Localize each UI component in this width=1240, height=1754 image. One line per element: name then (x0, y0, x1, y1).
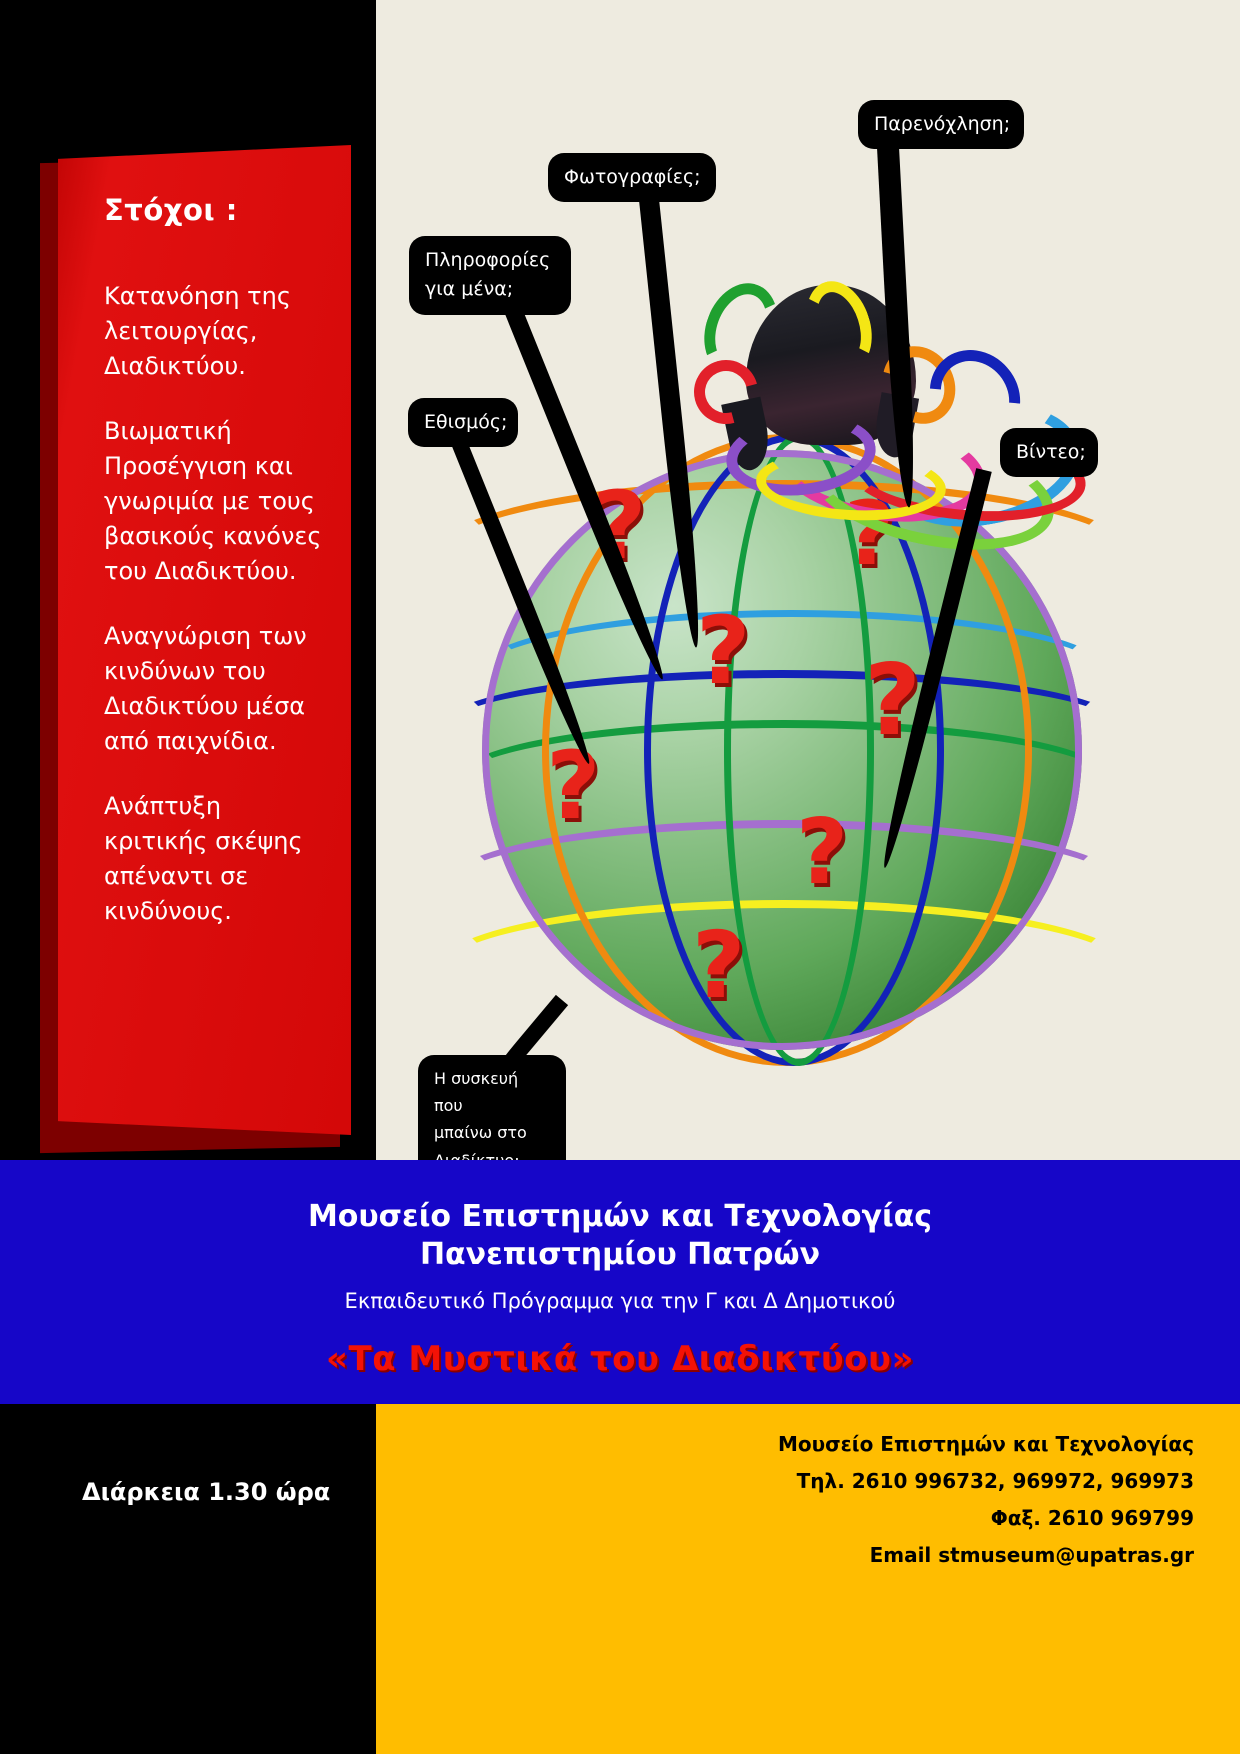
program-title: «Τα Μυστικά του Διαδικτύου» (0, 1339, 1240, 1379)
objective-item: Βιωματική Προσέγγιση και γνωριμία με του… (104, 414, 323, 589)
question-mark: ? (692, 920, 745, 1012)
bubble-harassment[interactable]: Παρενόχληση; (858, 100, 1024, 149)
bubble-photos[interactable]: Φωτογραφίες; (548, 153, 716, 202)
question-mark: ? (796, 808, 848, 898)
contact-line: Μουσείο Επιστημών και Τεχνολογίας (376, 1426, 1194, 1463)
duration-label: Διάρκεια 1.30 ώρα (82, 1478, 330, 1506)
objectives-heading: Στόχοι : (104, 193, 323, 227)
museum-name-line1: Μουσείο Επιστημών και Τεχνολογίας (0, 1198, 1240, 1236)
program-subtitle: Εκπαιδευτικό Πρόγραμμα για την Γ και Δ Δ… (0, 1289, 1240, 1313)
museum-banner: Μουσείο Επιστημών και Τεχνολογίας Πανεπι… (0, 1160, 1240, 1404)
objective-item: Αναγνώριση των κινδύνων του Διαδικτύου μ… (104, 619, 323, 759)
objective-item: Ανάπτυξη κριτικής σκέψης απέναντι σε κιν… (104, 789, 323, 929)
objective-item: Κατανόηση της λειτουργίας, Διαδικτύου. (104, 279, 323, 384)
museum-name-line2: Πανεπιστημίου Πατρών (0, 1236, 1240, 1274)
question-mark: ? (696, 605, 751, 699)
poster-root: ? ? ? ? ? ? ? Παρενόχληση; (0, 0, 1240, 1754)
objectives-box: Στόχοι : Κατανόηση της λειτουργίας, Διαδ… (58, 145, 351, 1135)
bubble-info-about-me[interactable]: Πληροφορίες για μένα; (409, 236, 571, 315)
contact-line: Email stmuseum@upatras.gr (376, 1537, 1194, 1574)
bottom-left-panel (0, 1404, 376, 1754)
contact-box: Μουσείο Επιστημών και Τεχνολογίας Τηλ. 2… (376, 1404, 1240, 1754)
bubble-device[interactable]: Η συσκευή που μπαίνω στο Διαδίκτυο; (418, 1055, 566, 1160)
contact-line: Φαξ. 2610 969799 (376, 1500, 1194, 1537)
artwork-panel: ? ? ? ? ? ? ? Παρενόχληση; (376, 0, 1240, 1160)
bubble-addiction[interactable]: Εθισμός; (408, 398, 518, 447)
bubble-video[interactable]: Βίντεο; (1000, 428, 1098, 477)
question-mark: ? (546, 740, 601, 834)
contact-line: Τηλ. 2610 996732, 969972, 969973 (376, 1463, 1194, 1500)
